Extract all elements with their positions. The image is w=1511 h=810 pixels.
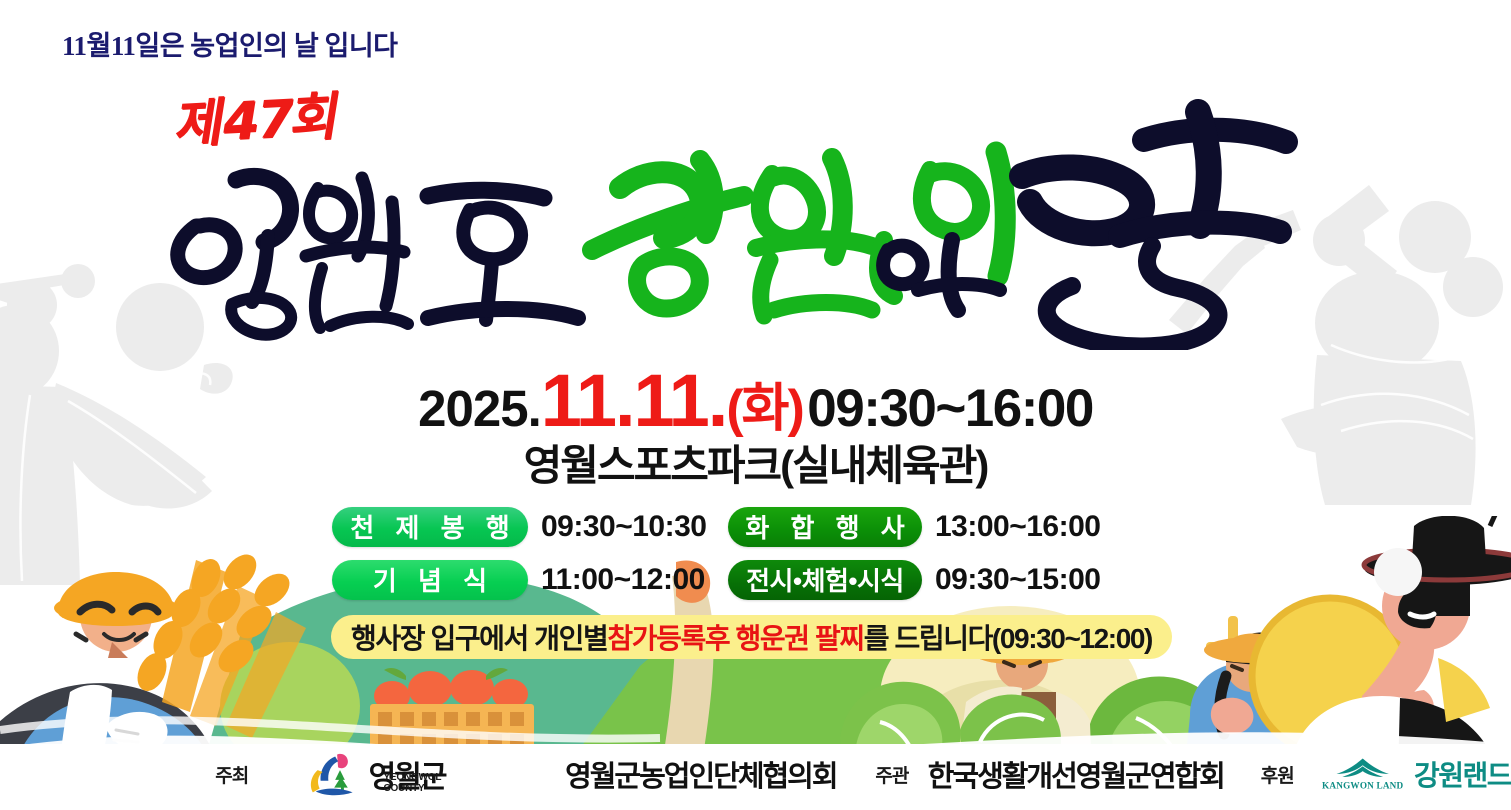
date-time: 09:30~16:00	[807, 379, 1093, 438]
schedule-time-2: 11:00~12:00	[528, 563, 728, 597]
organizer-role-label: 주관	[875, 761, 908, 788]
schedule-time-1: 13:00~16:00	[922, 510, 1122, 544]
svg-text:KANGWON LAND: KANGWON LAND	[1322, 781, 1403, 791]
schedule-time-0: 09:30~10:30	[528, 510, 728, 544]
brush-title-artwork	[0, 60, 1511, 350]
title-block: 제47회	[0, 60, 1511, 350]
brush-yeongwolgun	[178, 177, 578, 335]
notice-suffix: 를 드립니다(09:30~12:00)	[864, 617, 1152, 657]
host-logo-subtext: YEONGWOL COUNTY	[383, 772, 481, 794]
date-day: 11.11.	[541, 359, 727, 442]
footer-credits: 주최 영월군 YEONGWOL COUNTY 영월군농업인단체협의회 주관 한국…	[0, 746, 1511, 802]
date-year: 2025.	[418, 380, 541, 437]
yeongwol-county-logo-icon	[308, 750, 364, 798]
host-role-label: 주최	[215, 761, 248, 788]
date-line: 2025.11.11.(화) 09:30~16:00	[0, 358, 1511, 443]
venue-line: 영월스포츠파크(실내체육관)	[0, 432, 1511, 493]
schedule-grid: 천 제 봉 행 09:30~10:30 화 합 행 사 13:00~16:00 …	[332, 503, 1122, 603]
date-weekday: (화)	[726, 380, 802, 438]
schedule-label-1: 화 합 행 사	[728, 507, 922, 547]
registration-notice: 행사장 입구에서 개인별 참가등록후 행운권 팔찌를 드립니다(09:30~12…	[331, 615, 1172, 659]
kangwon-land-logo-icon: KANGWON LAND	[1321, 756, 1404, 792]
notice-prefix: 행사장 입구에서 개인별	[351, 617, 607, 657]
schedule-label-3: 전시•체험•시식	[728, 560, 922, 600]
sponsor-organization: 강원랜드	[1414, 754, 1511, 794]
schedule-time-3: 09:30~15:00	[922, 563, 1122, 597]
schedule-label-2: 기 념 식	[332, 560, 528, 600]
host-organization: 영월군농업인단체협의회	[565, 753, 836, 795]
top-note: 11월11일은 농업인의 날 입니다	[62, 24, 398, 63]
schedule-label-0: 천 제 봉 행	[332, 507, 528, 547]
sponsor-role-label: 후원	[1261, 761, 1294, 788]
organizer-organization: 한국생활개선영월군연합회	[928, 753, 1224, 795]
brush-nal	[1022, 112, 1286, 346]
event-poster: 11월11일은 농업인의 날 입니다 제47회	[0, 0, 1511, 810]
notice-highlight: 참가등록후 행운권 팔찌	[607, 617, 863, 657]
